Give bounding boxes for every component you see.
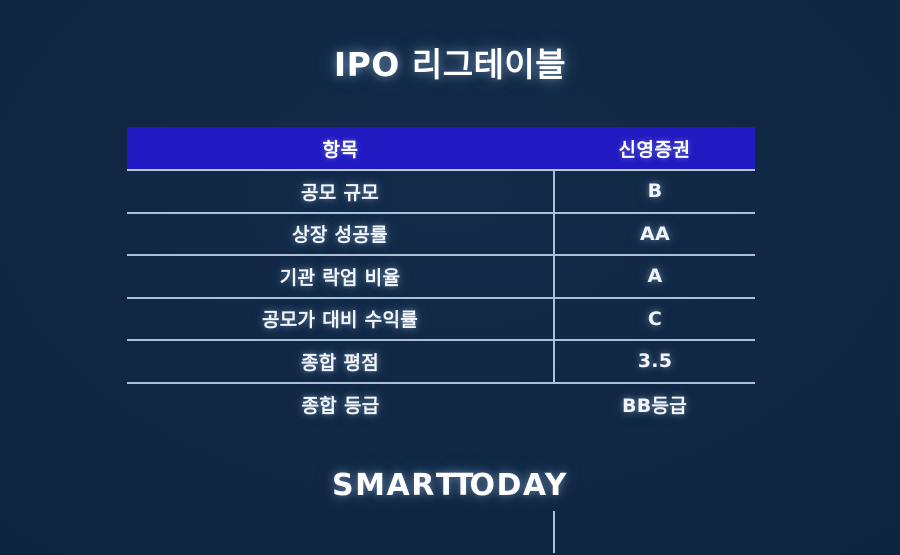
row-value: C [554, 298, 755, 341]
table-row: 종합 등급 BB등급 [127, 383, 755, 426]
table-body: 공모 규모 B 상장 성공률 AA 기관 락업 비율 A 공모가 대비 수익률 … [127, 170, 755, 425]
row-label: 공모가 대비 수익률 [127, 298, 554, 341]
row-label: 공모 규모 [127, 170, 554, 213]
logo-text-part-1: SMAR [332, 468, 436, 503]
smarttoday-logo: SMARTTODAY [0, 468, 900, 503]
row-value: BB등급 [554, 383, 755, 426]
logo-text-part-3: ODAY [469, 468, 567, 503]
row-label: 종합 평점 [127, 340, 554, 383]
table-row: 기관 락업 비율 A [127, 255, 755, 298]
row-label: 상장 성공률 [127, 213, 554, 256]
ipo-table-container: 항목 신영증권 공모 규모 B 상장 성공률 AA 기관 락업 비율 A [127, 127, 755, 425]
table-row: 공모 규모 B [127, 170, 755, 213]
row-label: 종합 등급 [127, 383, 554, 426]
table-row: 상장 성공률 AA [127, 213, 755, 256]
row-value: AA [554, 213, 755, 256]
page-title: IPO 리그테이블 [0, 38, 900, 86]
row-value: A [554, 255, 755, 298]
row-label: 기관 락업 비율 [127, 255, 554, 298]
row-value: B [554, 170, 755, 213]
table-row: 종합 평점 3.5 [127, 340, 755, 383]
table-header-row: 항목 신영증권 [127, 127, 755, 170]
table-header: 항목 신영증권 [127, 127, 755, 170]
ipo-league-table-card: IPO 리그테이블 항목 신영증권 공모 규모 B 상장 성공률 [0, 0, 900, 555]
row-value: 3.5 [554, 340, 755, 383]
column-header-item: 항목 [127, 127, 554, 170]
column-header-broker: 신영증권 [554, 127, 755, 170]
ipo-league-table: 항목 신영증권 공모 규모 B 상장 성공률 AA 기관 락업 비율 A [127, 127, 755, 425]
logo-text-part-2: TT [436, 468, 470, 503]
last-row-column-divider [553, 511, 555, 553]
table-row: 공모가 대비 수익률 C [127, 298, 755, 341]
